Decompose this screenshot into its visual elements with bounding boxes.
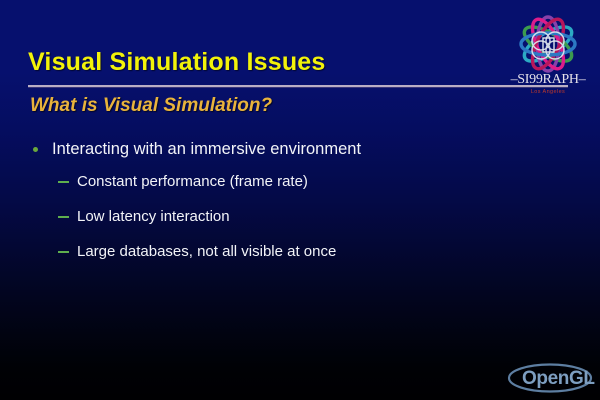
siggraph-rings-icon xyxy=(500,10,596,80)
opengl-logo: OpenGL . xyxy=(506,362,600,396)
bullet-dot-icon xyxy=(33,147,38,152)
bullet-dash-icon xyxy=(58,216,69,218)
siggraph-logo: –SI99RAPH– Los Angeles xyxy=(500,10,596,106)
list-item-label: Low latency interaction xyxy=(77,208,230,225)
list-item: Constant performance (frame rate) xyxy=(0,164,600,199)
presentation-slide: Visual Simulation Issues What is Visual … xyxy=(0,0,600,400)
title-divider xyxy=(28,85,568,87)
siggraph-wordmark-text: SI99RAPH xyxy=(517,72,578,87)
siggraph-trail-dash: – xyxy=(579,72,586,87)
slide-subtitle: What is Visual Simulation? xyxy=(30,95,272,117)
list-item-label: Large databases, not all visible at once xyxy=(77,243,336,260)
opengl-trademark: . xyxy=(591,379,593,386)
list-item-label: Interacting with an immersive environmen… xyxy=(52,140,361,158)
list-item: Interacting with an immersive environmen… xyxy=(0,134,600,164)
list-item: Large databases, not all visible at once xyxy=(0,234,600,269)
siggraph-city-label: Los Angeles xyxy=(500,89,596,95)
bullet-dash-icon xyxy=(58,251,69,253)
opengl-wordmark: OpenGL xyxy=(522,368,595,390)
siggraph-wordmark: –SI99RAPH– xyxy=(500,72,596,88)
bullet-list: Interacting with an immersive environmen… xyxy=(0,134,600,269)
page-title: Visual Simulation Issues xyxy=(28,48,326,77)
list-item: Low latency interaction xyxy=(0,199,600,234)
bullet-dash-icon xyxy=(58,181,69,183)
list-item-label: Constant performance (frame rate) xyxy=(77,173,308,190)
